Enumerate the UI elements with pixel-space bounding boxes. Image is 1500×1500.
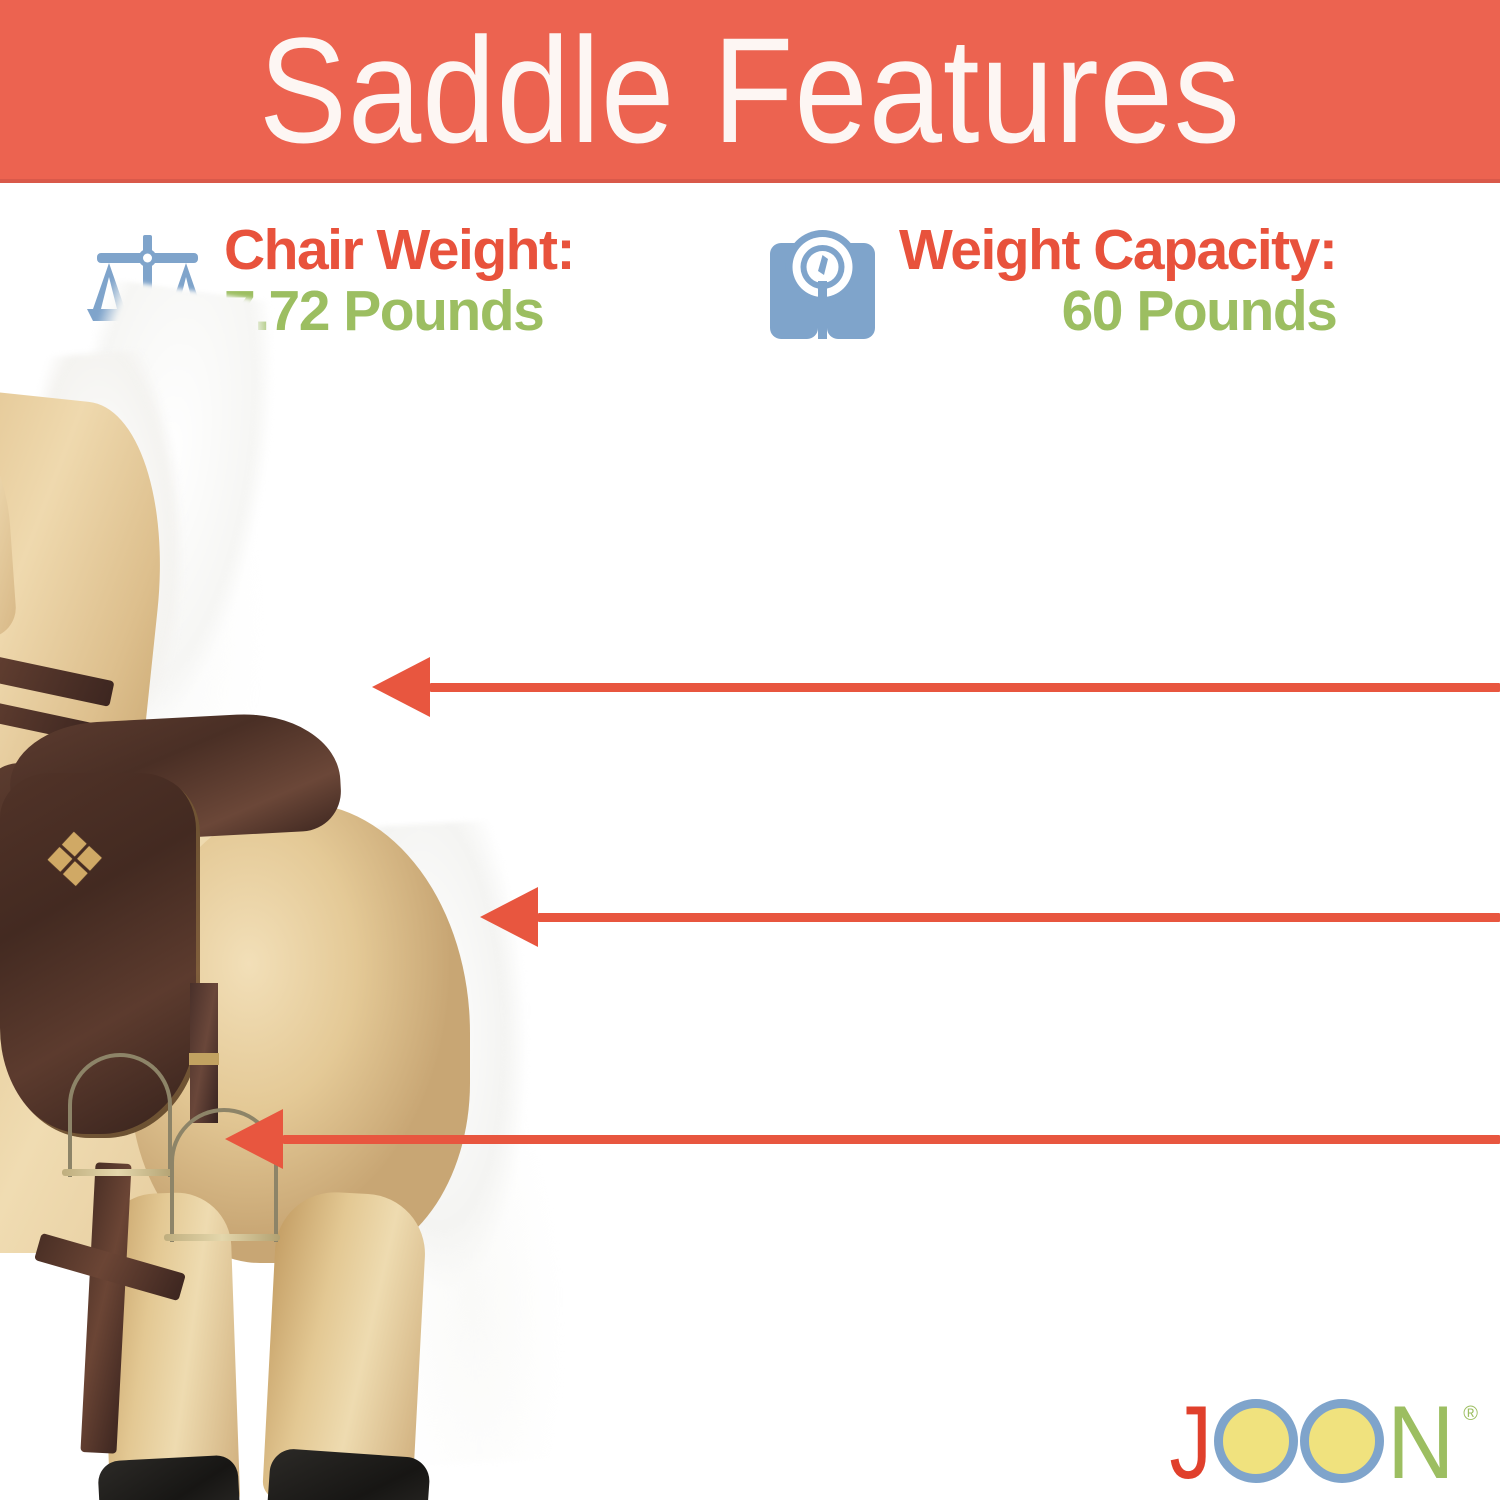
product-photo: ❖ [0,183,1500,1500]
stirrup-buckle [189,1053,219,1065]
rocking-horse-illustration: ❖ [0,263,770,1463]
callout-arrow-plush-materials [480,887,538,947]
stirrup-far [68,1053,172,1177]
joon-logo: J N ® [1160,1390,1478,1486]
header-banner: Saddle Features [0,0,1500,183]
stirrup-tread-far [62,1169,174,1176]
logo-letter-o-first [1214,1399,1298,1483]
stirrup-tread-near [164,1234,280,1241]
registered-trademark-icon: ® [1463,1404,1478,1424]
page-title: Saddle Features [259,15,1241,165]
infographic-canvas: Saddle Features [0,0,1500,1500]
callout-arrow-authentic-stirrups [225,1109,283,1169]
logo-letter-o-second [1300,1399,1384,1483]
logo-letter-j: J [1170,1401,1213,1486]
callout-line-decorative-saddle [430,683,1500,692]
callout-arrow-decorative-saddle [372,657,430,717]
callout-line-authentic-stirrups [283,1135,1500,1144]
saddle-embroidery: ❖ [40,821,153,920]
logo-letter-n: N [1387,1401,1455,1486]
callout-line-plush-materials [538,913,1500,922]
